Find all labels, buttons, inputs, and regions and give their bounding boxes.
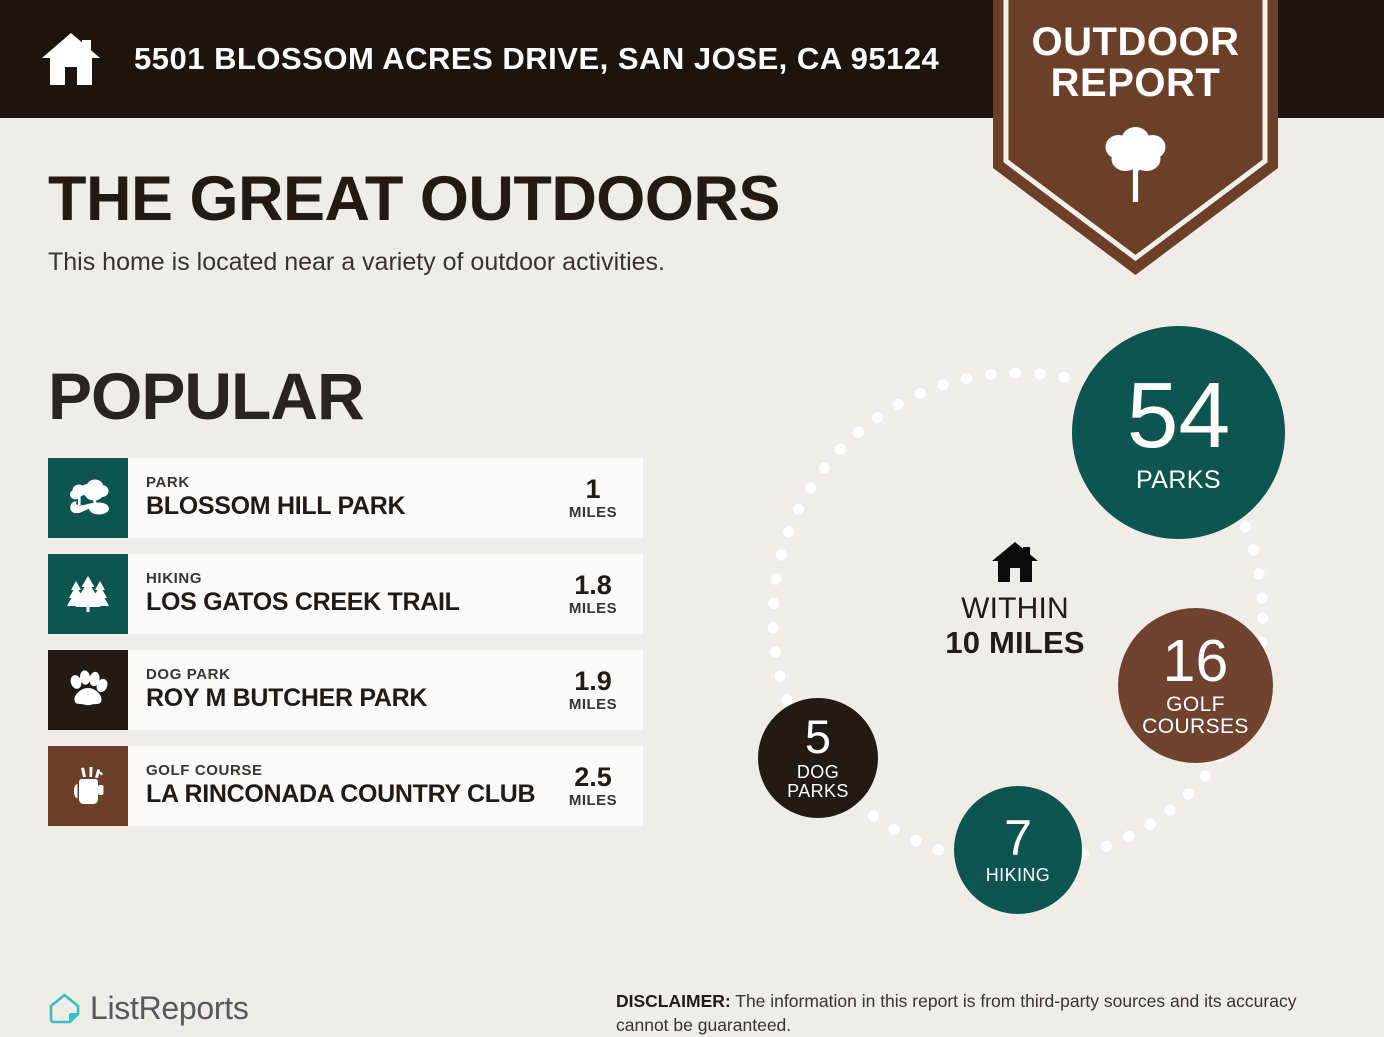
poi-category: HIKING <box>146 571 557 588</box>
poi-distance-unit: MILES <box>557 504 629 521</box>
header-address: 5501 BLOSSOM ACRES DRIVE, SAN JOSE, CA 9… <box>134 41 939 77</box>
stat-label-line2: COURSES <box>1142 715 1249 738</box>
poi-distance: 1 MILES <box>557 475 633 520</box>
listreports-house-icon <box>48 992 81 1025</box>
poi-name: LOS GATOS CREEK TRAIL <box>146 588 557 617</box>
popular-list: PARK BLOSSOM HILL PARK 1 MILES HIK <box>48 458 643 842</box>
stat-label: GOLF COURSES <box>1142 694 1249 739</box>
list-item[interactable]: GOLF COURSE LA RINCONADA COUNTRY CLUB 2.… <box>48 746 643 826</box>
list-item[interactable]: HIKING LOS GATOS CREEK TRAIL 1.8 MILES <box>48 554 643 634</box>
page-title: THE GREAT OUTDOORS <box>48 163 780 235</box>
poi-icon-tile <box>48 746 128 826</box>
stat-value: 54 <box>1127 371 1230 459</box>
stat-circle-golf-courses: 16 GOLF COURSES <box>1118 608 1273 763</box>
stat-value: 5 <box>805 715 831 760</box>
stat-label-line1: DOG <box>797 762 839 782</box>
poi-distance-value: 1 <box>557 475 629 503</box>
poi-distance-value: 1.8 <box>557 571 629 599</box>
stat-label-line2: PARKS <box>787 781 849 801</box>
badge-title: OUTDOOR REPORT <box>993 22 1278 104</box>
center-within-text: WITHIN <box>900 592 1130 626</box>
poi-distance: 1.8 MILES <box>557 571 633 616</box>
listreports-logo[interactable]: ListReports <box>48 990 249 1027</box>
stat-circle-hiking: 7 HIKING <box>954 786 1082 914</box>
poi-distance-unit: MILES <box>557 792 629 809</box>
poi-name: LA RINCONADA COUNTRY CLUB <box>146 780 557 809</box>
poi-distance: 1.9 MILES <box>557 667 633 712</box>
stat-label: DOG PARKS <box>787 763 849 801</box>
poi-icon-tile <box>48 650 128 730</box>
poi-texts: GOLF COURSE LA RINCONADA COUNTRY CLUB <box>146 763 557 808</box>
poi-icon-tile <box>48 554 128 634</box>
listreports-logo-text: ListReports <box>90 990 249 1027</box>
poi-texts: DOG PARK ROY M BUTCHER PARK <box>146 667 557 712</box>
badge-title-line2: REPORT <box>993 63 1278 104</box>
poi-category: PARK <box>146 475 557 492</box>
stat-circle-parks: 54 PARKS <box>1072 326 1285 539</box>
paw-print-icon <box>65 667 111 713</box>
stat-label-line1: GOLF <box>1166 693 1225 716</box>
poi-distance-value: 1.9 <box>557 667 629 695</box>
golf-bag-icon <box>65 763 111 809</box>
disclaimer: DISCLAIMER: The information in this repo… <box>616 990 1316 1037</box>
list-item[interactable]: DOG PARK ROY M BUTCHER PARK 1.9 MILES <box>48 650 643 730</box>
popular-heading: POPULAR <box>48 358 364 434</box>
park-trees-icon <box>65 475 111 521</box>
poi-category: DOG PARK <box>146 667 557 684</box>
poi-name: ROY M BUTCHER PARK <box>146 684 557 713</box>
stat-label: HIKING <box>986 866 1050 885</box>
poi-body: DOG PARK ROY M BUTCHER PARK 1.9 MILES <box>128 650 643 730</box>
poi-texts: PARK BLOSSOM HILL PARK <box>146 475 557 520</box>
badge-title-line1: OUTDOOR <box>1032 20 1240 64</box>
poi-category: GOLF COURSE <box>146 763 557 780</box>
poi-icon-tile <box>48 458 128 538</box>
within-10-miles-chart: 54 PARKS 16 GOLF COURSES 7 HIKING 5 DOG … <box>730 318 1350 928</box>
outdoor-report-badge: OUTDOOR REPORT <box>993 0 1278 275</box>
stat-value: 7 <box>1004 815 1032 863</box>
stat-value: 16 <box>1163 633 1229 689</box>
home-icon <box>40 31 102 87</box>
poi-distance-unit: MILES <box>557 600 629 617</box>
poi-body: PARK BLOSSOM HILL PARK 1 MILES <box>128 458 643 538</box>
stat-circle-dog-parks: 5 DOG PARKS <box>758 698 878 818</box>
poi-body: GOLF COURSE LA RINCONADA COUNTRY CLUB 2.… <box>128 746 643 826</box>
home-icon <box>991 540 1039 584</box>
poi-distance: 2.5 MILES <box>557 763 633 808</box>
stat-label: PARKS <box>1136 467 1221 494</box>
poi-texts: HIKING LOS GATOS CREEK TRAIL <box>146 571 557 616</box>
chart-center-label: WITHIN 10 MILES <box>900 540 1130 660</box>
center-miles-text: 10 MILES <box>900 626 1130 661</box>
list-item[interactable]: PARK BLOSSOM HILL PARK 1 MILES <box>48 458 643 538</box>
poi-body: HIKING LOS GATOS CREEK TRAIL 1.8 MILES <box>128 554 643 634</box>
page-subtitle: This home is located near a variety of o… <box>48 248 665 277</box>
pine-trees-icon <box>65 571 111 617</box>
poi-distance-value: 2.5 <box>557 763 629 791</box>
poi-distance-unit: MILES <box>557 696 629 713</box>
disclaimer-label: DISCLAIMER: <box>616 991 731 1011</box>
poi-name: BLOSSOM HILL PARK <box>146 492 557 521</box>
